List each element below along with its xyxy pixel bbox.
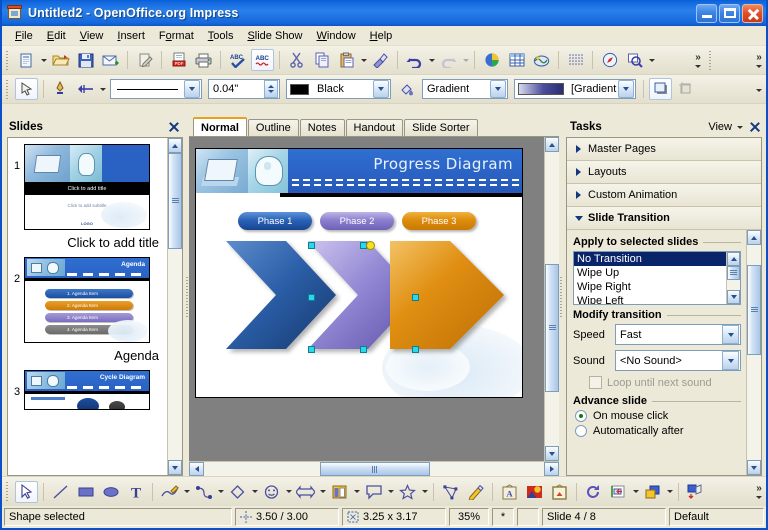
mouse-photo (248, 149, 288, 193)
line-color-value: Black (313, 83, 373, 95)
transition-item[interactable]: No Transition (574, 252, 726, 266)
paste-dropdown[interactable] (359, 50, 368, 70)
transition-scrollbar[interactable] (726, 252, 740, 304)
alignment-dropdown[interactable] (631, 482, 640, 502)
menu-slide-show[interactable]: Slide Show (240, 28, 309, 44)
advance-on-click-row[interactable]: On mouse click (575, 410, 741, 422)
line-width-spinner[interactable] (264, 80, 278, 98)
redo-dropdown[interactable] (461, 50, 470, 70)
slide-caption: Agenda (10, 345, 165, 370)
tasks-view-label[interactable]: View (708, 121, 732, 133)
list-item[interactable]: 2 Agenda 1. Agenda Item 2. Agenda Item 3… (10, 257, 165, 343)
scroll-up-button[interactable] (747, 230, 761, 245)
fontwork-gallery-icon[interactable]: A (498, 481, 521, 503)
gradient-dropdown-arrow[interactable] (618, 80, 634, 98)
chevron-down-icon[interactable] (722, 325, 739, 344)
tab-outline[interactable]: Outline (248, 119, 299, 136)
close-icon[interactable] (167, 120, 181, 134)
svg-text:ABC: ABC (256, 55, 270, 62)
scroll-thumb[interactable] (320, 462, 430, 476)
chevron-right-icon (573, 190, 584, 201)
selection-handle-br[interactable] (412, 346, 419, 353)
gradient-value: [Gradient 1 (567, 83, 618, 95)
scroll-up-button[interactable] (168, 138, 182, 153)
tasks-sections: Master Pages Layouts Custom Animation Sl… (566, 137, 762, 476)
scroll-thumb[interactable] (168, 153, 182, 249)
chevron-down-icon[interactable] (735, 117, 744, 137)
scroll-right-button[interactable] (544, 462, 559, 476)
gallery-icon[interactable] (530, 49, 553, 71)
line-color-swatch (290, 84, 309, 95)
scroll-track[interactable] (204, 462, 544, 476)
cut-icon[interactable] (285, 49, 308, 71)
menu-edit[interactable]: Edit (40, 28, 73, 44)
slides-panel-title: Slides (9, 121, 43, 133)
section-layouts[interactable]: Layouts (567, 161, 761, 184)
slides-panel: Slides 1 Click to add title Click to add… (2, 117, 185, 476)
stars-dropdown[interactable] (420, 482, 429, 502)
rectangle-icon[interactable] (74, 481, 97, 503)
advance-auto-label: Automatically after (593, 425, 683, 437)
advance-on-click-label: On mouse click (593, 410, 668, 422)
connector-icon[interactable] (192, 481, 215, 503)
menu-insert[interactable]: Insert (110, 28, 152, 44)
extrusion-icon[interactable] (684, 481, 707, 503)
area-style-icon[interactable] (395, 78, 418, 100)
slide-transition-inner: Apply to selected slides No Transition W… (567, 230, 746, 475)
computer-photo (196, 149, 248, 193)
menu-window[interactable]: Window (310, 28, 363, 44)
transition-item[interactable]: Wipe Right (574, 280, 726, 294)
undo-dropdown[interactable] (427, 50, 436, 70)
tab-notes[interactable]: Notes (300, 119, 345, 136)
flowchart-dropdown[interactable] (352, 482, 361, 502)
scroll-track[interactable] (545, 152, 559, 446)
line-icon[interactable] (49, 481, 72, 503)
status-modified: * (492, 508, 514, 526)
ellipse-icon[interactable] (99, 481, 122, 503)
phase-1-label[interactable]: Phase 1 (238, 212, 312, 230)
modify-group-label: Modify transition (573, 309, 662, 321)
status-modified-text: * (501, 511, 505, 523)
minimize-button[interactable] (696, 4, 717, 23)
transition-items: No Transition Wipe Up Wipe Right Wipe Le… (574, 252, 726, 304)
apply-group-header: Apply to selected slides (573, 236, 741, 248)
chevron-right-icon (573, 144, 584, 155)
selection-tool-icon[interactable] (15, 78, 38, 100)
undo-icon[interactable] (403, 49, 426, 71)
scroll-track[interactable] (168, 153, 182, 460)
status-message-text: Shape selected (9, 511, 85, 523)
thumb-agenda-item: 2. Agenda Item (45, 301, 133, 310)
tasks-scrollbar[interactable] (746, 230, 761, 475)
arrow-style-icon[interactable] (74, 78, 97, 100)
thumb-subtitle-placeholder: Click to add subtitle (67, 203, 106, 208)
drawing-toolbar: T (2, 476, 766, 506)
list-item[interactable]: 1 Click to add title Click to add subtit… (10, 144, 165, 230)
crop-icon[interactable] (674, 78, 697, 100)
copy-icon[interactable] (310, 49, 333, 71)
menu-help[interactable]: Help (363, 28, 400, 44)
advance-auto-radio[interactable] (575, 425, 587, 437)
block-arrows-icon[interactable] (294, 481, 317, 503)
redo-icon[interactable] (437, 49, 460, 71)
rotation-handle[interactable] (366, 241, 375, 250)
line-width-field[interactable]: 0.04" (208, 79, 280, 99)
thumb-header: Agenda (121, 261, 145, 268)
section-slide-transition[interactable]: Slide Transition (567, 207, 761, 230)
selection-handle-tl[interactable] (308, 242, 315, 249)
scroll-thumb[interactable] (727, 266, 740, 280)
scroll-up-button[interactable] (727, 252, 740, 266)
slides-scrollbar[interactable] (167, 138, 182, 475)
speed-row: Speed Fast (573, 324, 741, 345)
selection-handle-ml[interactable] (308, 294, 315, 301)
toolbar-grip-2[interactable] (707, 51, 714, 70)
canvas-wrapper: Progress Diagram (189, 137, 559, 461)
speed-select[interactable]: Fast (615, 324, 741, 345)
slide-thumbnail[interactable]: Agenda 1. Agenda Item 2. Agenda Item 3. … (24, 257, 150, 343)
arrow-style-dropdown[interactable] (98, 79, 107, 99)
line-style-preview (117, 89, 178, 90)
export-pdf-icon[interactable]: PDF (167, 49, 190, 71)
line-style-combo[interactable] (110, 79, 202, 99)
slide-thumbnail[interactable]: Click to add title Click to add subtitle… (24, 144, 150, 230)
fill-type-combo[interactable]: Gradient (422, 79, 508, 99)
phase-2-label[interactable]: Phase 2 (320, 212, 394, 230)
tab-slide-sorter[interactable]: Slide Sorter (404, 119, 477, 136)
menu-bar: File Edit View Insert Format Tools Slide… (2, 26, 766, 46)
sound-row: Sound <No Sound> (573, 350, 741, 371)
position-icon (240, 511, 252, 523)
zoom-dropdown[interactable] (647, 50, 656, 70)
close-button[interactable] (742, 4, 763, 23)
shadow-icon[interactable] (649, 78, 672, 100)
scroll-track[interactable] (747, 245, 761, 460)
toolbar-overflow-2[interactable]: » (752, 47, 766, 74)
menu-file-rest: ile (22, 30, 33, 42)
status-size: 3.25 x 3.17 (342, 508, 446, 526)
line-color-icon[interactable] (49, 78, 72, 100)
zoom-icon[interactable] (623, 49, 646, 71)
rotate-icon[interactable] (582, 481, 605, 503)
curve-icon[interactable] (158, 481, 181, 503)
selection-handle-bl[interactable] (308, 346, 315, 353)
scroll-up-button[interactable] (545, 137, 559, 152)
print-icon[interactable] (192, 49, 215, 71)
line-color-combo[interactable]: Black (286, 79, 391, 99)
flowchart-icon[interactable] (328, 481, 351, 503)
svg-text:PDF: PDF (174, 61, 183, 66)
open-icon[interactable] (49, 49, 72, 71)
line-style-dropdown-arrow[interactable] (184, 80, 200, 98)
arrange-icon[interactable] (641, 481, 664, 503)
loop-row: Loop until next sound (589, 376, 741, 389)
list-item[interactable]: 3 Cycle Diagram (10, 370, 165, 410)
stars-icon[interactable] (396, 481, 419, 503)
thumb-agenda-item: 1. Agenda Item (45, 289, 133, 298)
save-icon[interactable] (74, 49, 97, 71)
canvas-vscrollbar[interactable] (544, 137, 559, 461)
menu-file[interactable]: File (8, 28, 40, 44)
callouts-dropdown[interactable] (386, 482, 395, 502)
symbol-shapes-dropdown[interactable] (284, 482, 293, 502)
scroll-down-button[interactable] (727, 290, 740, 304)
table-icon[interactable] (505, 49, 528, 71)
tab-handout[interactable]: Handout (346, 119, 404, 136)
paste-icon[interactable] (335, 49, 358, 71)
callouts-icon[interactable] (362, 481, 385, 503)
scroll-down-button[interactable] (168, 460, 182, 475)
size-icon (347, 511, 359, 523)
title-bar: Untitled2 - OpenOffice.org Impress (2, 0, 766, 26)
slide-thumbnail[interactable]: Cycle Diagram (24, 370, 150, 410)
section-master-pages[interactable]: Master Pages (567, 138, 761, 161)
status-position-text: 3.50 / 3.00 (256, 511, 308, 523)
drawbar-overflow[interactable]: » (752, 478, 766, 505)
standard-toolbar: PDF ABC ABC (2, 46, 766, 75)
scroll-down-button[interactable] (545, 446, 559, 461)
modify-group-header: Modify transition (573, 309, 741, 321)
thumb-header: Cycle Diagram (100, 374, 145, 381)
navigator-icon[interactable] (598, 49, 621, 71)
svg-text:T: T (130, 485, 140, 499)
section-label: Master Pages (588, 143, 656, 155)
impress-document-icon (7, 5, 23, 21)
gradient-combo[interactable]: [Gradient 1 (514, 79, 636, 99)
from-file-icon[interactable] (523, 481, 546, 503)
status-zoom-text: 35% (458, 511, 480, 523)
tasks-panel-title: Tasks (570, 121, 708, 133)
maximize-button[interactable] (719, 4, 740, 23)
slide-caption: Click to add title (10, 232, 165, 257)
scroll-thumb[interactable] (747, 265, 761, 355)
main-area: Slides 1 Click to add title Click to add… (2, 117, 766, 476)
thumb-logo: LOGO (81, 221, 93, 226)
gallery-icon[interactable] (548, 481, 571, 503)
svg-text:A: A (506, 488, 513, 498)
sound-value: <No Sound> (616, 355, 722, 367)
status-message: Shape selected (4, 508, 232, 526)
editor-area: Normal Outline Notes Handout Slide Sorte… (189, 117, 559, 476)
section-custom-animation[interactable]: Custom Animation (567, 184, 761, 207)
impress-window: Untitled2 - OpenOffice.org Impress File … (0, 0, 768, 530)
advance-auto-row[interactable]: Automatically after (575, 425, 741, 437)
new-document-icon[interactable] (15, 49, 38, 71)
transition-item[interactable]: Wipe Up (574, 266, 726, 280)
speed-value: Fast (616, 329, 722, 341)
menu-tools[interactable]: Tools (201, 28, 241, 44)
chevron-right-icon (573, 167, 584, 178)
text-icon[interactable]: T (124, 481, 147, 503)
scroll-down-button[interactable] (747, 460, 761, 475)
clone-formatting-icon[interactable] (369, 49, 392, 71)
slide-page[interactable]: Progress Diagram (195, 148, 523, 398)
slides-list-content: 1 Click to add title Click to add subtit… (8, 138, 167, 475)
slide-number: 1 (10, 144, 24, 172)
email-document-icon[interactable] (99, 49, 122, 71)
scroll-track[interactable] (727, 266, 740, 290)
header-underline (280, 193, 522, 197)
new-document-dropdown[interactable] (39, 50, 48, 70)
chevron-down-icon (573, 213, 584, 224)
status-size-text: 3.25 x 3.17 (363, 511, 417, 523)
status-slide-info: Slide 4 / 8 (542, 508, 666, 526)
line-width-value: 0.04" (209, 83, 264, 95)
basic-shapes-icon[interactable] (226, 481, 249, 503)
line-color-dropdown-arrow[interactable] (373, 80, 389, 98)
slide-title[interactable]: Progress Diagram (373, 155, 513, 173)
spelling-check-icon[interactable]: ABC (226, 49, 249, 71)
points-icon[interactable] (439, 481, 462, 503)
phase-3-arrow[interactable] (388, 239, 510, 351)
menu-format[interactable]: Format (152, 28, 201, 44)
canvas-hscrollbar[interactable] (189, 461, 559, 476)
section-label: Custom Animation (588, 189, 677, 201)
slide-number: 2 (10, 257, 24, 285)
basic-shapes-dropdown[interactable] (250, 482, 259, 502)
status-slide-info-text: Slide 4 / 8 (547, 511, 596, 523)
drawbar-grip[interactable] (4, 482, 11, 501)
section-label: Layouts (588, 166, 627, 178)
scroll-thumb[interactable] (545, 264, 559, 392)
status-position: 3.50 / 3.00 (235, 508, 339, 526)
sound-label: Sound (573, 355, 611, 367)
line-and-fill-toolbar: 0.04" Black Gradient [Gradient 1 (2, 75, 766, 104)
slides-panel-header: Slides (2, 117, 185, 137)
curve-dropdown[interactable] (182, 482, 191, 502)
chart-icon[interactable] (480, 49, 503, 71)
toolbar-grip[interactable] (4, 51, 11, 70)
slides-list[interactable]: 1 Click to add title Click to add subtit… (7, 137, 183, 476)
autospellcheck-icon[interactable]: ABC (251, 49, 274, 71)
slide-header-photos (196, 149, 288, 193)
window-title: Untitled2 - OpenOffice.org Impress (28, 6, 696, 20)
window-controls (696, 4, 763, 23)
edit-file-icon[interactable] (133, 49, 156, 71)
advance-on-click-radio[interactable] (575, 410, 587, 422)
view-tabs: Normal Outline Notes Handout Slide Sorte… (189, 117, 559, 137)
status-signature (517, 508, 539, 526)
status-master: Default (669, 508, 764, 526)
toolbar-overflow[interactable]: » (691, 47, 705, 74)
scroll-left-button[interactable] (189, 462, 204, 476)
tasks-panel: Tasks View Master Pages Layouts Custom A… (563, 117, 766, 476)
symbol-shapes-icon[interactable] (260, 481, 283, 503)
tasks-panel-header: Tasks View (563, 117, 766, 137)
menu-view[interactable]: View (73, 28, 111, 44)
right-splitter[interactable] (559, 117, 563, 476)
apply-group-label: Apply to selected slides (573, 236, 698, 248)
close-icon[interactable] (748, 120, 762, 134)
gradient-preview (518, 83, 564, 95)
block-arrows-dropdown[interactable] (318, 482, 327, 502)
fill-type-value: Gradient (423, 83, 490, 95)
connector-dropdown[interactable] (216, 482, 225, 502)
linebar-grip[interactable] (4, 80, 11, 99)
selection-handle-bm[interactable] (360, 346, 367, 353)
advance-group-header: Advance slide (573, 395, 741, 407)
sound-select[interactable]: <No Sound> (615, 350, 741, 371)
transition-listbox[interactable]: No Transition Wipe Up Wipe Right Wipe Le… (573, 251, 741, 305)
loop-checkbox[interactable] (589, 376, 602, 389)
status-zoom[interactable]: 35% (449, 508, 489, 526)
thumb-title-placeholder: Click to add title (25, 182, 149, 195)
chevron-down-icon[interactable] (722, 351, 739, 370)
display-grid-icon[interactable] (564, 49, 587, 71)
advance-group-label: Advance slide (573, 395, 647, 407)
transition-item[interactable]: Wipe Left (574, 294, 726, 304)
arrange-dropdown[interactable] (665, 482, 674, 502)
selection-handle-mr[interactable] (412, 294, 419, 301)
phase-3-label[interactable]: Phase 3 (402, 212, 476, 230)
section-label: Slide Transition (588, 212, 670, 224)
loop-label: Loop until next sound (607, 377, 712, 389)
status-bar: Shape selected 3.50 / 3.00 3.25 x 3.17 3… (2, 506, 766, 528)
speed-label: Speed (573, 329, 611, 341)
status-master-text: Default (674, 511, 709, 523)
slide-canvas[interactable]: Progress Diagram (189, 137, 544, 461)
header-tick-pattern (292, 179, 522, 189)
slide-transition-content: Apply to selected slides No Transition W… (567, 230, 761, 475)
alignment-icon[interactable] (607, 481, 630, 503)
fontwork-icon[interactable] (464, 481, 487, 503)
tab-normal[interactable]: Normal (193, 117, 247, 136)
select-arrow-icon[interactable] (15, 481, 38, 503)
slide-number: 3 (10, 370, 24, 398)
linebar-overflow[interactable] (752, 76, 766, 103)
fill-type-dropdown-arrow[interactable] (490, 80, 506, 98)
